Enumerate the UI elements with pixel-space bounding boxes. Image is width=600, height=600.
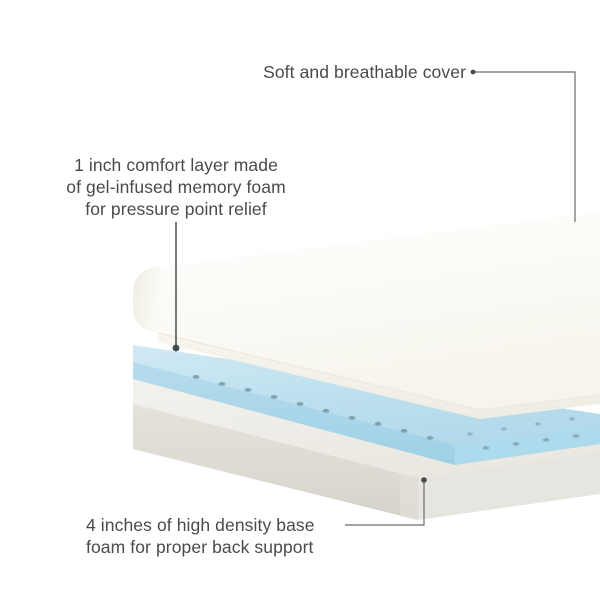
leader-dot-cover xyxy=(471,70,476,75)
leader-dot-comfort xyxy=(173,345,180,352)
callout-label-comfort-layer: 1 inch comfort layer made of gel-infused… xyxy=(26,154,326,220)
callout-label-base-foam: 4 inches of high density base foam for p… xyxy=(86,514,356,558)
base-foam-corner-shading xyxy=(400,474,418,520)
cover-left-end-shading xyxy=(133,266,160,333)
product-diagram-canvas: Soft and breathable cover 1 inch comfort… xyxy=(0,0,600,600)
leader-dot-base xyxy=(421,477,427,483)
leader-line-cover xyxy=(474,72,575,222)
mattress-layers-illustration xyxy=(0,0,600,600)
callout-label-cover: Soft and breathable cover xyxy=(246,61,466,83)
